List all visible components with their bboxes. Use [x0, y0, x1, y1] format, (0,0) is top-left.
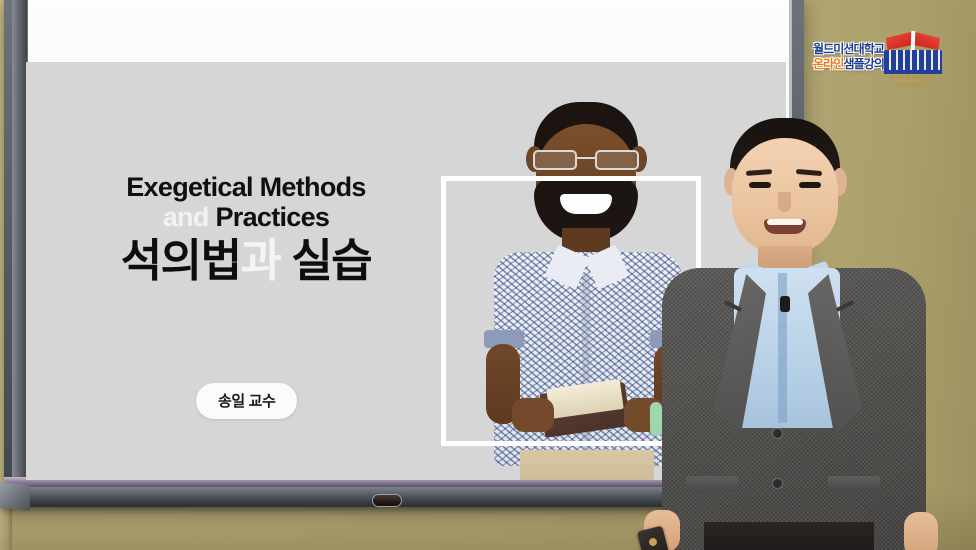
- photo-subject-trousers: [520, 450, 654, 480]
- slide-title-en-line1: Exegetical Methods: [86, 172, 406, 202]
- glasses-icon: [530, 150, 642, 170]
- glasses-lens-left: [533, 150, 577, 170]
- presenter-trousers: [704, 522, 874, 550]
- presenter-blazer-pocket-left: [686, 476, 738, 492]
- logo-online-word: 온라인: [813, 57, 843, 71]
- whiteboard-left-rail: [12, 0, 27, 494]
- slide-title-en-practices: Practices: [215, 202, 329, 232]
- presenter-teeth: [767, 219, 803, 225]
- glasses-lens-right: [595, 150, 639, 170]
- emblem-base: [884, 70, 942, 74]
- whiteboard-tray-end-cap: [0, 482, 30, 511]
- emblem-caption: WORLD MISSION UNIVERSITY: [884, 75, 942, 90]
- presenter-blazer-button-bottom: [772, 478, 783, 489]
- logo-sample-lecture-word: 샘플강의: [843, 57, 884, 71]
- emblem-caption-line2: UNIVERSITY: [884, 83, 942, 91]
- lapel-microphone-icon: [780, 296, 790, 312]
- whiteboard-marker-icon: [372, 494, 402, 507]
- university-emblem-icon: WORLD MISSION UNIVERSITY: [884, 30, 942, 90]
- emblem-caption-line1: WORLD MISSION: [884, 75, 942, 83]
- slide-title-ko-part2: 과: [240, 235, 280, 286]
- slide-title-ko: 석의법과 실습: [86, 237, 406, 286]
- logo-wordmark: 월드미션대학교 온라인샘플강의: [792, 42, 884, 71]
- glasses-bridge: [577, 157, 595, 159]
- presenter-hand-right: [904, 512, 938, 550]
- presenter-nose: [778, 192, 791, 212]
- university-logo: 월드미션대학교 온라인샘플강의 WORLD MISSION UNIVERSITY: [792, 30, 942, 92]
- slide-title-ko-part3: 실습: [291, 235, 371, 286]
- slide-title-en-and: and: [163, 202, 209, 232]
- presenter-shirt-button-3b: [779, 389, 786, 396]
- presenter-figure: [640, 118, 976, 550]
- open-book-spine: [911, 31, 916, 51]
- slide-title-block: Exegetical Methods and Practices 석의법과 실습: [86, 172, 406, 286]
- video-frame: Exegetical Methods and Practices 석의법과 실습…: [0, 0, 976, 550]
- presenter-eye-left: [749, 182, 771, 188]
- logo-line-course-label: 온라인샘플강의: [792, 57, 884, 72]
- presenter-shirt-button-1b: [779, 323, 786, 330]
- slide-title-en-line2: and Practices: [86, 202, 406, 232]
- presenter-shirt-button-2b: [779, 356, 786, 363]
- presenter-eye-right: [799, 182, 821, 188]
- open-book-icon: [886, 30, 940, 52]
- presenter-blazer-pocket-right: [828, 476, 880, 492]
- logo-line-university-name: 월드미션대학교: [792, 42, 884, 57]
- emblem-columns-icon: [884, 50, 942, 72]
- slide-title-ko-part1: 석의법: [121, 235, 241, 286]
- open-book-page-left: [886, 32, 913, 50]
- open-book-page-right: [913, 32, 940, 50]
- presenter-name-badge: 송일 교수: [196, 383, 297, 419]
- presenter-blazer-button-top: [772, 428, 783, 439]
